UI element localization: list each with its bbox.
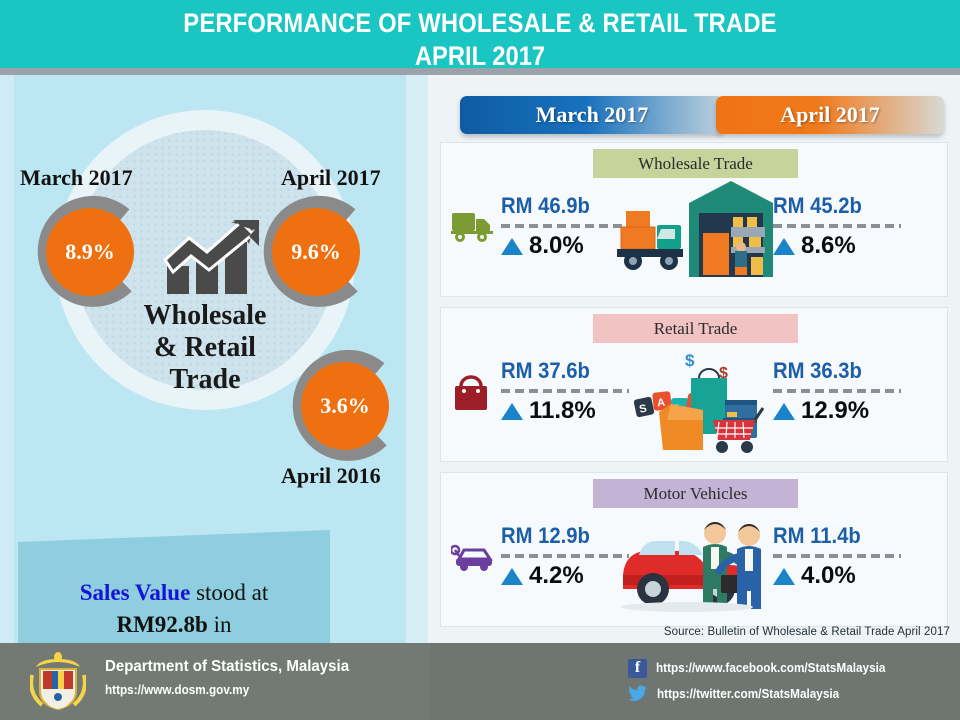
panel-tint-left [0, 75, 14, 643]
section-title-wholesale: Wholesale Trade [593, 149, 798, 178]
warehouse-illustration [617, 181, 777, 296]
section-retail-trade: Retail Trade RM 37.6b 11.8% [440, 307, 948, 462]
donut-march-2017: 8.9% [31, 193, 149, 311]
svg-text:A: A [657, 397, 666, 410]
sales-value-line2-rest: in [208, 612, 232, 637]
up-triangle-icon [773, 403, 795, 420]
change-wholesale-april: 8.6% [773, 232, 905, 260]
section-wholesale-trade: Wholesale Trade RM 46.9b [440, 142, 948, 297]
panel-tint-right [406, 75, 428, 643]
metric-values: RM 11.4b 4.0% [773, 523, 905, 590]
change-retail-march: 11.8% [501, 397, 633, 425]
change-motor-april: 4.0% [773, 562, 905, 590]
change-value: 4.2% [529, 562, 584, 590]
malaysia-coat-of-arms-icon [30, 651, 86, 716]
value-wholesale-march: RM 46.9b [501, 193, 622, 219]
change-value: 11.8% [529, 397, 596, 425]
page-title-line1: PERFORMANCE OF WHOLESALE & RETAIL TRADE [58, 0, 903, 39]
dashed-separator [773, 554, 901, 558]
dashed-separator [773, 389, 901, 393]
tab-april-2017[interactable]: April 2017 [716, 96, 944, 134]
car-icon [451, 539, 497, 578]
metric-values: RM 36.3b 12.9% [773, 358, 905, 425]
value-motor-march: RM 12.9b [501, 523, 622, 549]
value-retail-march: RM 37.6b [501, 358, 622, 384]
donut-value-march-2017: 8.9% [46, 208, 134, 296]
donut-label-april-2016: April 2016 [281, 463, 381, 489]
donut-april-2016: 3.6% [286, 347, 404, 465]
center-label-line3: Trade [95, 364, 315, 396]
value-motor-april: RM 11.4b [773, 523, 894, 549]
page-header: PERFORMANCE OF WHOLESALE & RETAIL TRADE … [0, 0, 960, 68]
sales-value-line1-rest: stood at [190, 580, 268, 605]
svg-text:$: $ [685, 351, 695, 370]
shopping-illustration: $ $ S A L E [627, 348, 777, 461]
growth-chart-icon [163, 220, 259, 301]
value-wholesale-april: RM 45.2b [773, 193, 894, 219]
change-retail-april: 12.9% [773, 397, 905, 425]
header-divider [0, 68, 960, 75]
center-label: Wholesale & Retail Trade [95, 300, 315, 396]
facebook-link-row[interactable]: f https://www.facebook.com/StatsMalaysia [628, 655, 900, 681]
metric-values: RM 12.9b 4.2% [501, 523, 633, 590]
metric-values: RM 45.2b 8.6% [773, 193, 905, 260]
department-url[interactable]: https://www.dosm.gov.my [105, 683, 249, 697]
up-triangle-icon [501, 568, 523, 585]
sales-value-line2: RM92.8b in [18, 612, 330, 638]
dashed-separator [501, 224, 629, 228]
car-dealership-illustration [617, 513, 777, 623]
source-note: Source: Bulletin of Wholesale & Retail T… [664, 626, 950, 638]
metric-values: RM 37.6b 11.8% [501, 358, 633, 425]
change-value: 8.6% [801, 232, 856, 260]
up-triangle-icon [501, 238, 523, 255]
page-footer: Department of Statistics, Malaysia https… [0, 643, 960, 720]
detail-panel: March 2017 April 2017 Wholesale Trade RM… [428, 75, 960, 643]
summary-panel: Wholesale & Retail Trade 8.9% March 2017… [0, 75, 428, 643]
section-title-motor: Motor Vehicles [593, 479, 798, 508]
sales-value-strong: Sales Value [80, 580, 191, 605]
shopping-bag-icon [451, 374, 491, 417]
donut-label-march-2017: March 2017 [20, 165, 133, 191]
facebook-icon: f [628, 659, 647, 678]
dashed-separator [773, 224, 901, 228]
change-motor-march: 4.2% [501, 562, 633, 590]
donut-april-2017: 9.6% [257, 193, 375, 311]
value-retail-april: RM 36.3b [773, 358, 894, 384]
donut-value-april-2016: 3.6% [301, 362, 389, 450]
change-value: 8.0% [529, 232, 584, 260]
change-value: 12.9% [801, 397, 869, 425]
change-value: 4.0% [801, 562, 856, 590]
sales-value-amount: RM92.8b [116, 612, 207, 637]
up-triangle-icon [773, 238, 795, 255]
twitter-url[interactable]: https://twitter.com/StatsMalaysia [657, 687, 839, 701]
infographic-root: PERFORMANCE OF WHOLESALE & RETAIL TRADE … [0, 0, 960, 720]
twitter-link-row[interactable]: https://twitter.com/StatsMalaysia [628, 681, 900, 707]
up-triangle-icon [773, 568, 795, 585]
section-motor-vehicles: Motor Vehicles RM 12.9b [440, 472, 948, 627]
social-links: f https://www.facebook.com/StatsMalaysia… [628, 655, 900, 707]
change-wholesale-march: 8.0% [501, 232, 633, 260]
twitter-icon [628, 685, 648, 703]
department-name: Department of Statistics, Malaysia [105, 658, 349, 676]
dashed-separator [501, 389, 629, 393]
donut-label-april-2017: April 2017 [281, 165, 381, 191]
facebook-url[interactable]: https://www.facebook.com/StatsMalaysia [656, 661, 885, 675]
metric-values: RM 46.9b 8.0% [501, 193, 633, 260]
sales-value-line1: Sales Value stood at [18, 580, 330, 606]
section-title-retail: Retail Trade [593, 314, 798, 343]
donut-value-april-2017: 9.6% [272, 208, 360, 296]
dashed-separator [501, 554, 629, 558]
center-label-line2: & Retail [95, 332, 315, 364]
tab-march-2017[interactable]: March 2017 [460, 96, 724, 134]
up-triangle-icon [501, 403, 523, 420]
truck-icon [451, 209, 495, 248]
